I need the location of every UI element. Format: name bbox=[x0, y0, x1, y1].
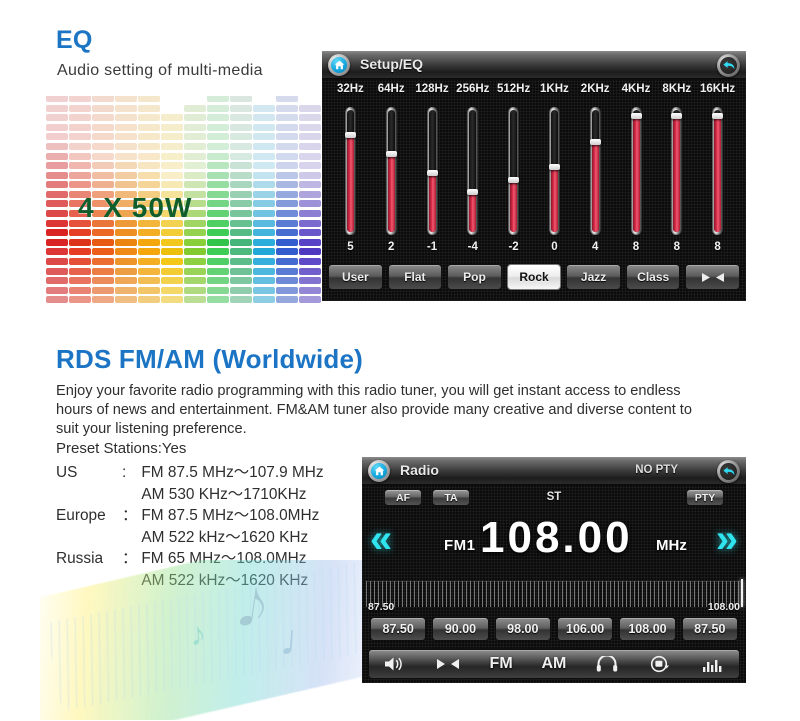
eq-slider[interactable] bbox=[385, 107, 398, 235]
music-note-icon: ♪ bbox=[189, 617, 207, 650]
eq-graphic-cell bbox=[253, 229, 275, 236]
eq-graphic-cell bbox=[230, 191, 252, 198]
eq-graphic-cell bbox=[184, 143, 206, 150]
eq-band-value: 8 bbox=[616, 241, 656, 253]
eq-graphic-cell bbox=[161, 143, 183, 150]
eq-slider-fill bbox=[673, 116, 680, 232]
rds-description: Enjoy your favorite radio programming wi… bbox=[56, 382, 711, 439]
eq-graphic-cell bbox=[207, 114, 229, 121]
eq-graphic-cell bbox=[230, 268, 252, 275]
eq-graphic-cell bbox=[253, 210, 275, 217]
headphone-icon[interactable] bbox=[590, 656, 624, 672]
back-arrow-icon[interactable] bbox=[717, 460, 740, 483]
eq-graphic-cell bbox=[207, 220, 229, 227]
tuning-scale[interactable] bbox=[366, 581, 742, 607]
scan-save-icon bbox=[650, 655, 670, 673]
eq-slider-fill bbox=[551, 167, 558, 232]
eq-band-label: 16KHz bbox=[698, 83, 738, 95]
eq-graphic-cell bbox=[253, 124, 275, 131]
eq-graphic-cell bbox=[207, 277, 229, 284]
eq-graphic-cell bbox=[92, 258, 114, 265]
eq-graphic-cell bbox=[161, 181, 183, 188]
eq-graphic-cell bbox=[138, 105, 160, 112]
eq-graphic-cell bbox=[276, 229, 298, 236]
eq-graphic-cell bbox=[92, 248, 114, 255]
eq-graphic-cell bbox=[299, 162, 321, 169]
eq-graphic-cell bbox=[230, 258, 252, 265]
eq-graphic-cell bbox=[161, 239, 183, 246]
eq-graphic-cell bbox=[230, 287, 252, 294]
eq-graphic-cell bbox=[46, 287, 68, 294]
eq-slider-fill bbox=[388, 154, 395, 232]
band-fm-range: FM 87.5 MHz～108.0MHz bbox=[141, 505, 323, 527]
frequency-display-row: « FM1 108.00 MHz » bbox=[362, 511, 746, 569]
eq-band-value: -4 bbox=[453, 241, 493, 253]
eq-preset-flat-button[interactable]: Flat bbox=[388, 264, 443, 290]
eq-slider-knob[interactable] bbox=[345, 132, 356, 138]
eq-graphic-cell bbox=[92, 268, 114, 275]
eq-graphic-cell bbox=[161, 114, 183, 121]
eq-preset-class-button[interactable]: Class bbox=[626, 264, 681, 290]
eq-graphic-cell bbox=[276, 220, 298, 227]
radio-preset-buttons: 87.5090.0098.00106.00108.0087.50 bbox=[370, 617, 738, 641]
eq-slider-fill bbox=[714, 116, 721, 232]
eq-graphic-cell bbox=[299, 229, 321, 236]
eq-graphic-cell bbox=[92, 153, 114, 160]
eq-graphic-cell bbox=[276, 162, 298, 169]
eq-device-panel: Setup/EQ 32Hz64Hz128Hz256Hz512Hz1KHz2KHz… bbox=[322, 51, 746, 301]
eq-band-value: -1 bbox=[412, 241, 452, 253]
eq-graphic-cell bbox=[276, 124, 298, 131]
eq-graphic-cell bbox=[253, 114, 275, 121]
eq-graphic-cell bbox=[253, 296, 275, 303]
eq-slider[interactable] bbox=[344, 107, 357, 235]
eq-titlebar: Setup/EQ bbox=[322, 51, 746, 79]
eq-graphic-cell bbox=[161, 162, 183, 169]
eq-graphic-cell bbox=[92, 181, 114, 188]
eq-graphic-cell bbox=[46, 114, 68, 121]
eq-graphic-cell bbox=[230, 277, 252, 284]
eq-graphic-cell bbox=[299, 200, 321, 207]
eq-graphic-cell bbox=[69, 248, 91, 255]
eq-slider[interactable] bbox=[670, 107, 683, 235]
eq-graphic-cell bbox=[184, 133, 206, 140]
eq-graphic-cell bbox=[299, 248, 321, 255]
eq-graphic-cell bbox=[276, 172, 298, 179]
eq-graphic-cell bbox=[207, 229, 229, 236]
eq-graphic-cell bbox=[184, 277, 206, 284]
eq-graphic-cell bbox=[276, 268, 298, 275]
band-region: Europe bbox=[56, 505, 122, 527]
eq-graphic-cell bbox=[207, 143, 229, 150]
eq-band-label: 32Hz bbox=[330, 83, 370, 95]
eq-graphic-cell bbox=[276, 210, 298, 217]
radio-preset-button[interactable]: 90.00 bbox=[432, 617, 488, 641]
eq-graphic-cell bbox=[138, 153, 160, 160]
eq-preset-label: Flat bbox=[404, 270, 425, 284]
eq-graphic-cell bbox=[138, 268, 160, 275]
pty-button[interactable]: PTY bbox=[686, 489, 724, 506]
eq-graphic-cell bbox=[46, 124, 68, 131]
eq-preset-pop-button[interactable]: Pop bbox=[447, 264, 502, 290]
eq-graphic-cell bbox=[230, 248, 252, 255]
scale-min-label: 87.50 bbox=[368, 601, 394, 613]
band-label: FM1 bbox=[444, 537, 476, 554]
eq-slider[interactable] bbox=[589, 107, 602, 235]
eq-graphic-cell bbox=[230, 210, 252, 217]
eq-slider-knob[interactable] bbox=[508, 177, 519, 183]
eq-graphic-cell bbox=[230, 172, 252, 179]
eq-graphic-cell bbox=[92, 143, 114, 150]
eq-graphic-cell bbox=[92, 239, 114, 246]
eq-graphic-cell bbox=[253, 191, 275, 198]
eq-graphic-cell bbox=[138, 143, 160, 150]
eq-graphic-cell bbox=[161, 124, 183, 131]
eq-graphic-cell bbox=[207, 248, 229, 255]
eq-graphic-cell bbox=[138, 287, 160, 294]
eq-graphic-cell bbox=[276, 114, 298, 121]
eq-graphic-cell bbox=[138, 133, 160, 140]
eq-graphic-cell bbox=[207, 133, 229, 140]
eq-graphic-cell bbox=[207, 296, 229, 303]
eq-graphic-cell bbox=[299, 181, 321, 188]
eq-graphic-cell bbox=[92, 277, 114, 284]
eq-graphic-cell bbox=[161, 153, 183, 160]
eq-graphic-cell bbox=[46, 268, 68, 275]
eq-graphic-cell bbox=[230, 296, 252, 303]
eq-graphic-cell bbox=[115, 105, 137, 112]
eq-preset-label: Class bbox=[637, 270, 669, 284]
eq-graphic-cell bbox=[253, 277, 275, 284]
eq-graphic-cell bbox=[138, 114, 160, 121]
eq-graphic-cell bbox=[184, 105, 206, 112]
eq-graphic-cell bbox=[207, 287, 229, 294]
eq-graphic-cell bbox=[69, 277, 91, 284]
eq-band-value: 5 bbox=[330, 241, 370, 253]
radio-preset-label: 108.00 bbox=[628, 622, 666, 636]
rds-section-title: RDS FM/AM (Worldwide) bbox=[56, 344, 363, 375]
eq-graphic-cell bbox=[207, 258, 229, 265]
eq-graphic-cell bbox=[276, 181, 298, 188]
eq-slider-fill bbox=[592, 142, 599, 232]
radio-preset-button[interactable]: 98.00 bbox=[495, 617, 551, 641]
eq-graphic-cell bbox=[299, 239, 321, 246]
radio-preset-label: 87.50 bbox=[694, 622, 725, 636]
eq-graphic-cell bbox=[115, 287, 137, 294]
page-root: EQ Audio setting of multi-media 4 X 50W … bbox=[0, 0, 800, 721]
eq-preset-user-button[interactable]: User bbox=[328, 264, 383, 290]
radio-preset-button[interactable]: 87.50 bbox=[370, 617, 426, 641]
eq-slider[interactable] bbox=[711, 107, 724, 235]
radio-preset-button[interactable]: 87.50 bbox=[682, 617, 738, 641]
eq-graphic-cell bbox=[230, 105, 252, 112]
scan-save-icon[interactable] bbox=[643, 655, 677, 673]
eq-graphic-column bbox=[46, 96, 68, 306]
am-button-label: AM bbox=[542, 655, 567, 673]
band-row: AM 530 KHz～1710KHz bbox=[56, 484, 324, 506]
eq-graphic-cell bbox=[253, 153, 275, 160]
eq-graphic-cell bbox=[230, 143, 252, 150]
radio-device-panel: Radio NO PTY AF TA ST PTY « FM1 108.00 M… bbox=[362, 457, 746, 683]
eq-slider-knob[interactable] bbox=[631, 113, 642, 119]
eq-graphic-cell bbox=[161, 248, 183, 255]
eq-slider-fill bbox=[510, 180, 517, 232]
tuning-marker bbox=[741, 579, 743, 607]
eq-graphic-cell bbox=[69, 229, 91, 236]
eq-slider[interactable] bbox=[548, 107, 561, 235]
eq-graphic-cell bbox=[115, 181, 137, 188]
eq-graphic-cell bbox=[184, 153, 206, 160]
eq-section-title: EQ bbox=[56, 26, 93, 55]
eq-graphic-cell bbox=[253, 181, 275, 188]
eq-preset-rock-button[interactable]: Rock bbox=[507, 264, 562, 290]
eq-graphic-cell bbox=[184, 287, 206, 294]
eq-graphic-cell bbox=[46, 200, 68, 207]
radio-bottom-toolbar: FMAM bbox=[368, 649, 740, 679]
band-row: AM 522 kHz～1620 KHz bbox=[56, 527, 324, 549]
eq-graphic-cell bbox=[92, 114, 114, 121]
eq-slider-fill bbox=[469, 192, 476, 232]
fm-button-label: FM bbox=[490, 655, 513, 673]
eq-panel-title: Setup/EQ bbox=[360, 56, 423, 72]
eq-graphic-cell bbox=[69, 296, 91, 303]
loudness-icon bbox=[701, 272, 725, 283]
eq-band-value: 2 bbox=[371, 241, 411, 253]
eq-graphic-cell bbox=[115, 229, 137, 236]
eq-slider-knob[interactable] bbox=[590, 139, 601, 145]
eq-graphic-cell bbox=[46, 143, 68, 150]
eq-graphic-cell bbox=[46, 210, 68, 217]
eq-graphic-cell bbox=[207, 200, 229, 207]
eq-graphic-cell bbox=[92, 96, 114, 102]
am-button[interactable]: AM bbox=[537, 655, 571, 673]
music-notes-watermark: 𝅘𝅥𝅮 ♪ ♩ bbox=[40, 560, 380, 720]
back-arrow-icon[interactable] bbox=[717, 54, 740, 77]
eq-slider[interactable] bbox=[507, 107, 520, 235]
eq-graphic-cell bbox=[92, 124, 114, 131]
eq-graphic-cell bbox=[161, 268, 183, 275]
radio-screen: AF TA ST PTY « FM1 108.00 MHz » 87.50 10… bbox=[362, 485, 746, 683]
eq-graphic-cell bbox=[299, 133, 321, 140]
eq-graphic-cell bbox=[46, 191, 68, 198]
eq-graphic-cell bbox=[46, 105, 68, 112]
radio-preset-button[interactable]: 106.00 bbox=[557, 617, 613, 641]
band-row: US:FM 87.5 MHz～107.9 MHz bbox=[56, 462, 324, 484]
eq-graphic-cell bbox=[299, 153, 321, 160]
eq-band-label: 512Hz bbox=[494, 83, 534, 95]
eq-preset-label: Rock bbox=[519, 270, 548, 284]
eq-graphic-cell bbox=[253, 105, 275, 112]
frequency-value: 108.00 bbox=[480, 513, 633, 563]
eq-graphic-cell bbox=[69, 96, 91, 102]
preset-stations-line: Preset Stations:Yes bbox=[56, 440, 186, 457]
eq-graphic-cell bbox=[161, 172, 183, 179]
eq-graphic-cell bbox=[115, 133, 137, 140]
eq-graphic-cell bbox=[46, 277, 68, 284]
radio-preset-button[interactable]: 108.00 bbox=[619, 617, 675, 641]
eq-graphic-cell bbox=[115, 96, 137, 102]
band-fm-range: FM 87.5 MHz～107.9 MHz bbox=[141, 462, 323, 484]
eq-slider-knob[interactable] bbox=[712, 113, 723, 119]
eq-graphic-cell bbox=[184, 162, 206, 169]
radio-titlebar: Radio NO PTY bbox=[362, 457, 746, 485]
eq-graphic-cell bbox=[69, 124, 91, 131]
eq-graphic-cell bbox=[46, 239, 68, 246]
eq-bars-icon bbox=[702, 657, 722, 672]
eq-graphic-cell bbox=[230, 124, 252, 131]
eq-graphic-cell bbox=[184, 268, 206, 275]
eq-band-labels: 32Hz64Hz128Hz256Hz512Hz1KHz2KHz4KHz8KHz1… bbox=[322, 83, 746, 103]
power-output-badge: 4 X 50W bbox=[78, 192, 192, 224]
eq-graphic-cell bbox=[69, 143, 91, 150]
eq-graphic-cell bbox=[299, 105, 321, 112]
eq-graphic-cell bbox=[207, 124, 229, 131]
eq-graphic-cell bbox=[230, 200, 252, 207]
eq-graphic-cell bbox=[69, 181, 91, 188]
eq-graphic-cell bbox=[207, 105, 229, 112]
eq-band-value: -2 bbox=[494, 241, 534, 253]
home-icon[interactable] bbox=[368, 460, 390, 482]
eq-graphic-cell bbox=[184, 181, 206, 188]
eq-graphic-cell bbox=[276, 277, 298, 284]
eq-graphic-cell bbox=[207, 239, 229, 246]
eq-graphic-cell bbox=[276, 133, 298, 140]
eq-band-label: 128Hz bbox=[412, 83, 452, 95]
eq-preset-buttons: UserFlatPopRockJazzClass bbox=[328, 264, 740, 290]
eq-slider[interactable] bbox=[426, 107, 439, 235]
eq-graphic-cell bbox=[161, 277, 183, 284]
headphone-icon bbox=[596, 656, 618, 672]
eq-band-value: 8 bbox=[698, 241, 738, 253]
eq-band-label: 8KHz bbox=[657, 83, 697, 95]
eq-graphic-cell bbox=[253, 248, 275, 255]
eq-graphic-cell bbox=[69, 268, 91, 275]
eq-graphic-cell bbox=[46, 296, 68, 303]
eq-graphic-cell bbox=[138, 277, 160, 284]
tune-up-button[interactable]: » bbox=[716, 519, 738, 559]
eq-graphic-cell bbox=[69, 239, 91, 246]
eq-graphic-cell bbox=[276, 258, 298, 265]
eq-graphic-cell bbox=[230, 162, 252, 169]
eq-bars-icon[interactable] bbox=[695, 657, 729, 672]
eq-graphic-cell bbox=[276, 296, 298, 303]
eq-graphic-cell bbox=[115, 114, 137, 121]
eq-graphic-cell bbox=[115, 258, 137, 265]
eq-preset-label: Pop bbox=[463, 270, 486, 284]
eq-graphic-cell bbox=[207, 268, 229, 275]
eq-graphic-cell bbox=[46, 133, 68, 140]
eq-graphic-cell bbox=[253, 268, 275, 275]
eq-graphic-cell bbox=[115, 124, 137, 131]
eq-graphic-cell bbox=[69, 133, 91, 140]
eq-graphic-cell bbox=[230, 229, 252, 236]
band-am-range: AM 522 kHz～1620 KHz bbox=[141, 527, 323, 549]
radio-preset-label: 87.50 bbox=[383, 622, 414, 636]
eq-slider-fill bbox=[347, 135, 354, 232]
volume-icon[interactable] bbox=[378, 656, 412, 672]
home-icon[interactable] bbox=[328, 54, 350, 76]
eq-slider[interactable] bbox=[466, 107, 479, 235]
eq-graphic-cell bbox=[138, 96, 160, 102]
eq-slider-knob[interactable] bbox=[467, 189, 478, 195]
eq-graphic-cell bbox=[138, 248, 160, 255]
eq-graphic-cell bbox=[299, 258, 321, 265]
eq-graphic-cell bbox=[299, 287, 321, 294]
rds-button-row: AF TA ST PTY bbox=[362, 489, 746, 509]
eq-graphic-cell bbox=[276, 96, 298, 102]
tune-down-button[interactable]: « bbox=[370, 519, 392, 559]
eq-band-label: 2KHz bbox=[575, 83, 615, 95]
eq-slider-knob[interactable] bbox=[386, 151, 397, 157]
eq-slider-knob[interactable] bbox=[427, 170, 438, 176]
eq-preset-label: User bbox=[342, 270, 369, 284]
eq-band-label: 4KHz bbox=[616, 83, 656, 95]
eq-graphic-cell bbox=[92, 296, 114, 303]
fm-button[interactable]: FM bbox=[484, 655, 518, 673]
eq-graphic-cell bbox=[184, 114, 206, 121]
eq-graphic-cell bbox=[299, 220, 321, 227]
eq-band-value: 0 bbox=[534, 241, 574, 253]
eq-graphic-column bbox=[276, 96, 298, 306]
eq-graphic-cell bbox=[46, 229, 68, 236]
eq-graphic-cell bbox=[184, 239, 206, 246]
frequency-unit: MHz bbox=[656, 537, 687, 554]
eq-slider-knob[interactable] bbox=[671, 113, 682, 119]
eq-graphic-cell bbox=[253, 220, 275, 227]
eq-graphic-cell bbox=[253, 143, 275, 150]
eq-band-label: 1KHz bbox=[534, 83, 574, 95]
eq-graphic-cell bbox=[207, 181, 229, 188]
eq-section-subtitle: Audio setting of multi-media bbox=[57, 62, 263, 80]
eq-slider-fill bbox=[429, 173, 436, 232]
loudness-preset-button[interactable] bbox=[685, 264, 740, 290]
eq-graphic-cell bbox=[138, 296, 160, 303]
eq-preset-jazz-button[interactable]: Jazz bbox=[566, 264, 621, 290]
eq-graphic-cell bbox=[69, 287, 91, 294]
eq-graphic-cell bbox=[115, 248, 137, 255]
eq-graphic-cell bbox=[276, 248, 298, 255]
eq-graphic-cell bbox=[276, 143, 298, 150]
eq-graphic-cell bbox=[184, 172, 206, 179]
band-row: Europe：FM 87.5 MHz～108.0MHz bbox=[56, 505, 324, 527]
eq-graphic-cell bbox=[207, 153, 229, 160]
eq-graphic-cell bbox=[69, 162, 91, 169]
eq-band-label: 256Hz bbox=[453, 83, 493, 95]
eq-graphic-cell bbox=[46, 248, 68, 255]
eq-graphic-cell bbox=[299, 124, 321, 131]
radio-panel-title: Radio bbox=[400, 462, 439, 478]
eq-graphic-cell bbox=[230, 181, 252, 188]
volume-icon bbox=[384, 656, 406, 672]
eq-graphic-cell bbox=[161, 296, 183, 303]
eq-graphic-cell bbox=[276, 287, 298, 294]
eq-band-label: 64Hz bbox=[371, 83, 411, 95]
eq-graphic-column bbox=[207, 96, 229, 306]
eq-graphic-cell bbox=[230, 153, 252, 160]
eq-graphic-cell bbox=[138, 124, 160, 131]
eq-graphic-cell bbox=[276, 191, 298, 198]
eq-graphic-cell bbox=[299, 172, 321, 179]
eq-graphic-cell bbox=[161, 258, 183, 265]
loudness-icon[interactable] bbox=[431, 658, 465, 670]
eq-slider[interactable] bbox=[630, 107, 643, 235]
eq-graphic-column bbox=[230, 96, 252, 306]
eq-slider-knob[interactable] bbox=[549, 164, 560, 170]
eq-graphic-cell bbox=[69, 258, 91, 265]
eq-graphic-cell bbox=[299, 143, 321, 150]
eq-band-value: 8 bbox=[657, 241, 697, 253]
eq-graphic-cell bbox=[299, 277, 321, 284]
